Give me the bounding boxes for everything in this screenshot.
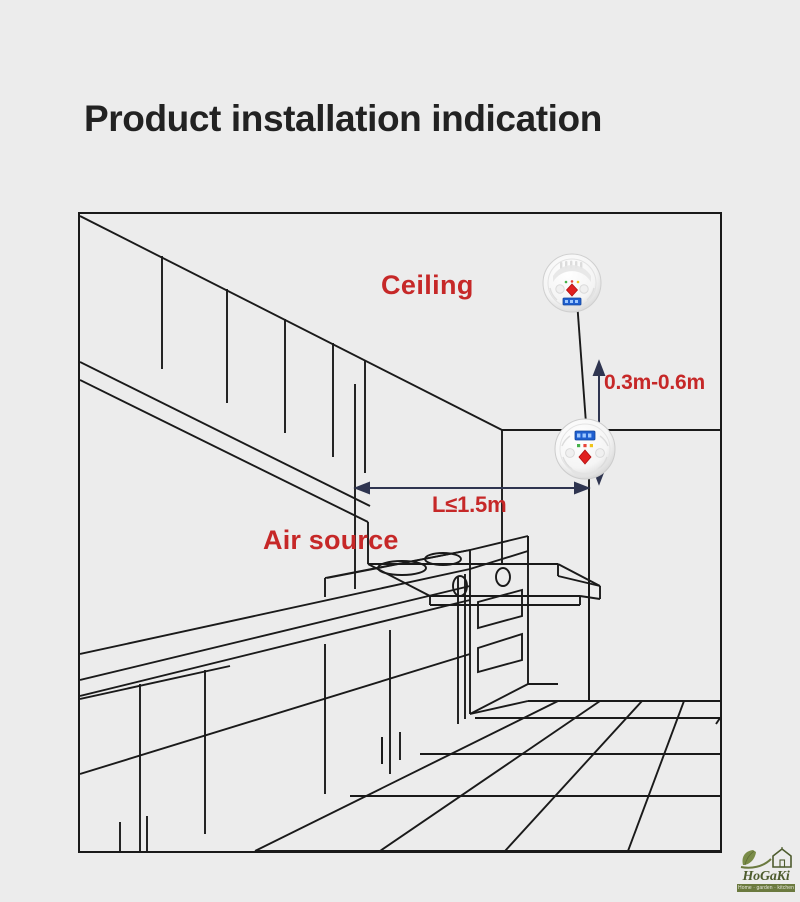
logo-tagline: Home · garden · kitchen xyxy=(737,884,795,892)
logo-wordmark: HoGaKi xyxy=(737,870,795,884)
label-vertical-distance: 0.3m-0.6m xyxy=(604,371,705,395)
page-title: Product installation indication xyxy=(84,98,724,140)
house-leaf-icon xyxy=(737,847,795,871)
label-air-source: Air source xyxy=(263,525,399,556)
ceiling-group xyxy=(80,216,720,522)
lcd-display xyxy=(563,298,581,305)
kitchen-scene xyxy=(80,214,720,851)
installation-diagram xyxy=(78,212,722,853)
brand-logo: HoGaKi Home · garden · kitchen xyxy=(737,847,795,893)
gas-detector-ceiling xyxy=(541,252,603,314)
gas-detector-wall xyxy=(552,416,618,482)
label-horizontal-distance: L≤1.5m xyxy=(432,492,506,518)
label-ceiling: Ceiling xyxy=(381,270,474,301)
kitchen-counter xyxy=(80,550,470,851)
page-root: Product installation indication xyxy=(0,0,800,902)
lcd-display xyxy=(575,431,595,440)
